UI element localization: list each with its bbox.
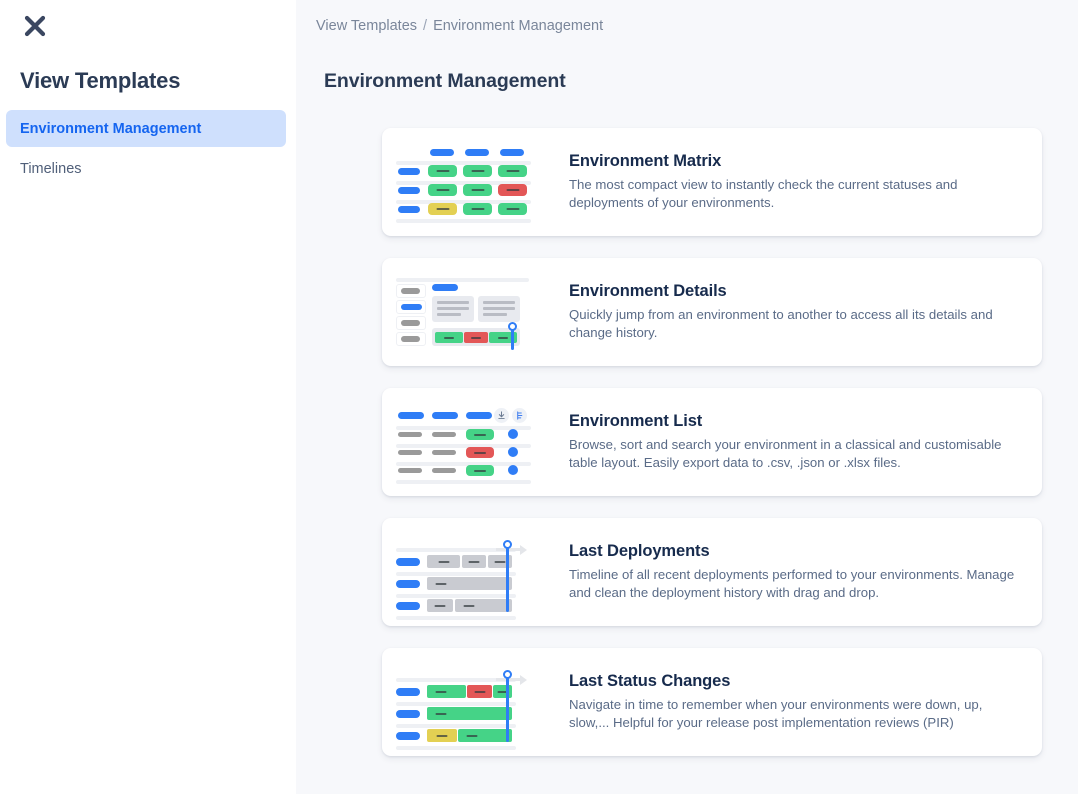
sidebar-item-environment-management[interactable]: Environment Management xyxy=(6,110,286,147)
row-action-icon xyxy=(508,429,518,439)
card-environment-matrix[interactable]: Environment Matrix The most compact view… xyxy=(382,128,1042,236)
row-action-icon xyxy=(508,465,518,475)
deployments-thumbnail xyxy=(396,534,531,610)
app-root: View Templates Environment Management Ti… xyxy=(0,0,1078,794)
list-thumbnail xyxy=(396,404,531,480)
card-last-status-changes[interactable]: Last Status Changes Navigate in time to … xyxy=(382,648,1042,756)
card-environment-list[interactable]: Environment List Browse, sort and search… xyxy=(382,388,1042,496)
card-title: Environment Details xyxy=(569,282,1020,301)
main-content: View Templates / Environment Management … xyxy=(296,0,1078,794)
matrix-thumbnail xyxy=(396,144,531,220)
settings-icon xyxy=(512,408,527,423)
card-description: Quickly jump from an environment to anot… xyxy=(569,306,1020,342)
row-action-icon xyxy=(508,447,518,457)
sidebar-title: View Templates xyxy=(20,68,180,94)
breadcrumb: View Templates / Environment Management xyxy=(316,18,603,34)
card-title: Environment List xyxy=(569,412,1020,431)
card-title: Environment Matrix xyxy=(569,152,1020,171)
template-card-list: Environment Matrix The most compact view… xyxy=(382,128,1042,756)
card-environment-details[interactable]: Environment Details Quickly jump from an… xyxy=(382,258,1042,366)
card-description: The most compact view to instantly check… xyxy=(569,176,1020,212)
sidebar: View Templates Environment Management Ti… xyxy=(0,0,296,794)
card-description: Navigate in time to remember when your e… xyxy=(569,696,1020,732)
card-description: Browse, sort and search your environment… xyxy=(569,436,1020,472)
download-icon xyxy=(494,408,509,423)
sidebar-item-timelines[interactable]: Timelines xyxy=(6,150,286,187)
card-text: Environment List Browse, sort and search… xyxy=(569,412,1026,472)
breadcrumb-current: Environment Management xyxy=(433,18,603,34)
status-changes-thumbnail xyxy=(396,664,531,740)
close-icon[interactable] xyxy=(18,9,52,43)
sidebar-item-label: Environment Management xyxy=(20,121,201,137)
card-description: Timeline of all recent deployments perfo… xyxy=(569,566,1020,602)
card-text: Last Deployments Timeline of all recent … xyxy=(569,542,1026,602)
breadcrumb-root[interactable]: View Templates xyxy=(316,18,417,34)
card-text: Environment Details Quickly jump from an… xyxy=(569,282,1026,342)
card-text: Last Status Changes Navigate in time to … xyxy=(569,672,1026,732)
details-thumbnail xyxy=(396,274,531,350)
sidebar-nav: Environment Management Timelines xyxy=(6,110,286,190)
card-last-deployments[interactable]: Last Deployments Timeline of all recent … xyxy=(382,518,1042,626)
page-title: Environment Management xyxy=(324,70,566,93)
sidebar-item-label: Timelines xyxy=(20,161,82,177)
card-text: Environment Matrix The most compact view… xyxy=(569,152,1026,212)
card-title: Last Status Changes xyxy=(569,672,1020,691)
card-title: Last Deployments xyxy=(569,542,1020,561)
breadcrumb-separator: / xyxy=(423,18,427,34)
